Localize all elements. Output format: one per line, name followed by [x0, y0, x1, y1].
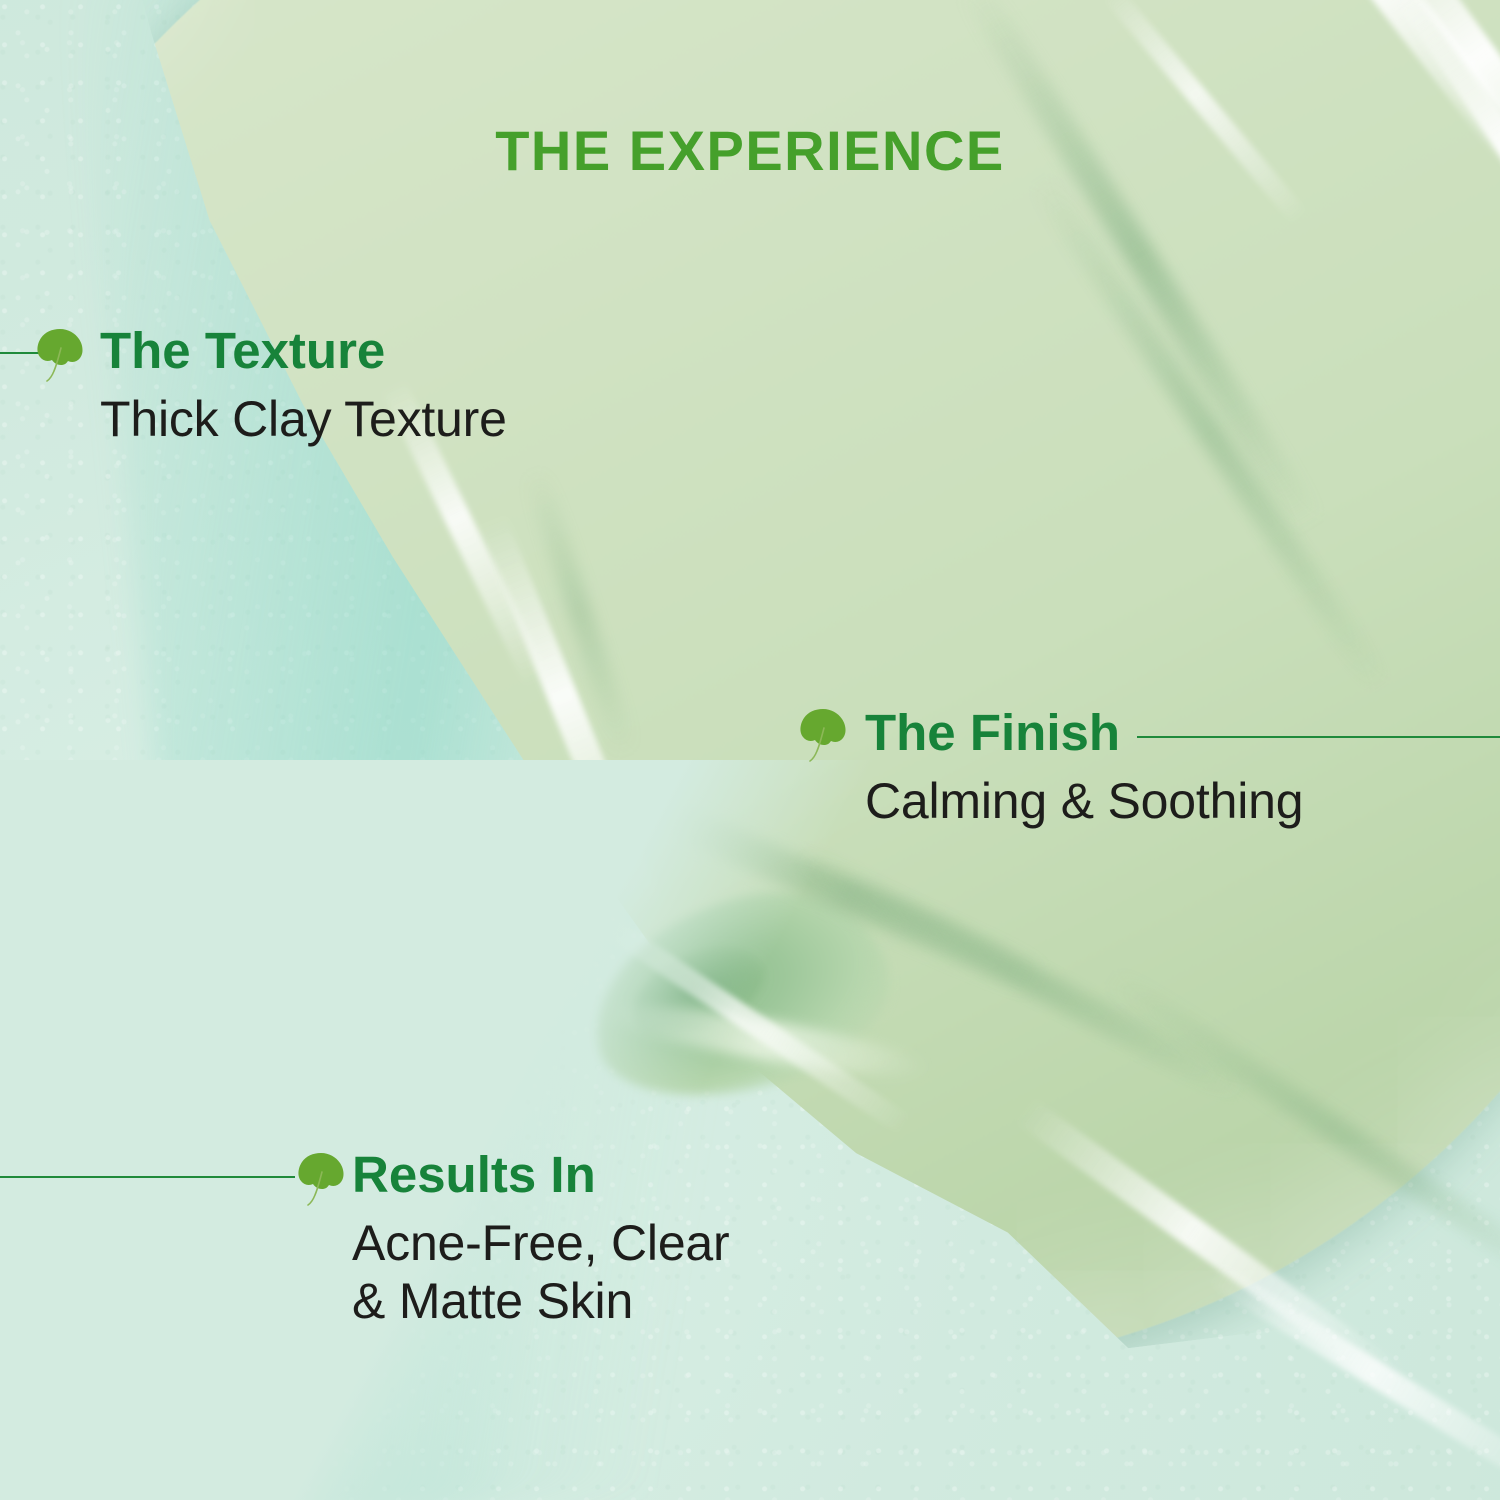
centella-leaf-icon	[295, 1150, 347, 1210]
callout-heading-results: Results In	[352, 1148, 730, 1202]
callout-heading-texture: The Texture	[100, 324, 507, 378]
centella-leaf-icon	[797, 706, 849, 766]
page-title: THE EXPERIENCE	[0, 118, 1500, 183]
callout-heading-finish: The Finish	[865, 706, 1303, 760]
product-experience-infographic: THE EXPERIENCE The Texture Thick Clay Te…	[0, 0, 1500, 1500]
callout-body-results: Acne-Free, Clear & Matte Skin	[352, 1214, 730, 1330]
callout-body-texture: Thick Clay Texture	[100, 390, 507, 448]
callout-body-line: & Matte Skin	[352, 1272, 730, 1330]
callout-texture: The Texture Thick Clay Texture	[100, 324, 507, 448]
callout-body-finish: Calming & Soothing	[865, 772, 1303, 830]
callout-body-line: Acne-Free, Clear	[352, 1214, 730, 1272]
callout-finish: The Finish Calming & Soothing	[865, 706, 1303, 830]
centella-leaf-icon	[34, 326, 86, 386]
callout-results: Results In Acne-Free, Clear & Matte Skin	[352, 1148, 730, 1330]
